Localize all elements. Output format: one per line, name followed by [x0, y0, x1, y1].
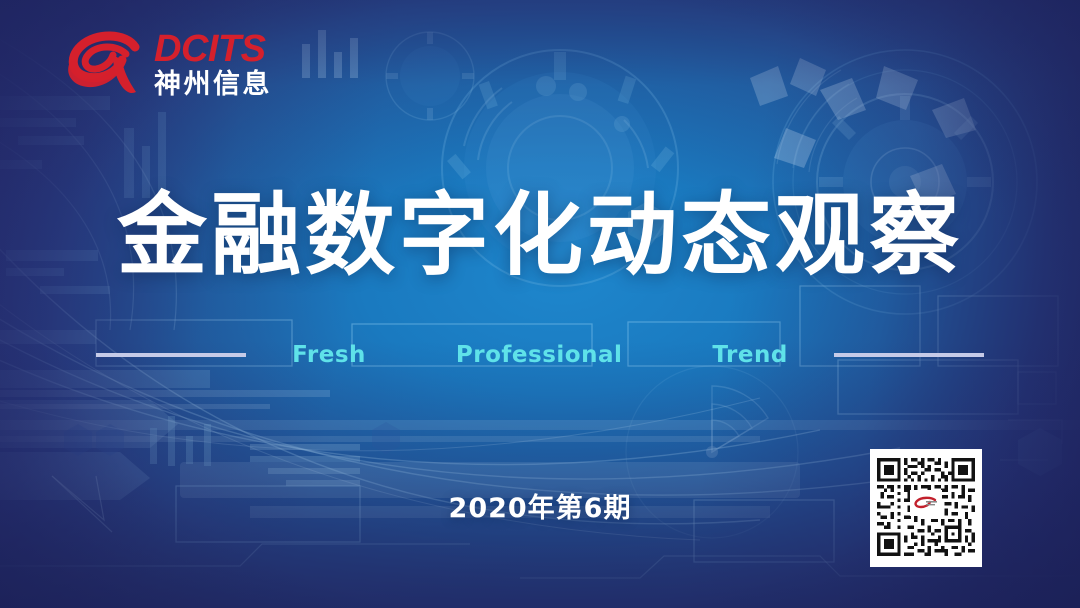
brand-chinese-name: 神州信息 [154, 71, 272, 98]
dcits-swirl-logo-icon [913, 496, 939, 510]
qr-code[interactable] [870, 449, 982, 567]
brand-logo: DCITS 神州信息 [66, 28, 272, 100]
qr-code-matrix [877, 456, 975, 558]
tagline-word-professional: Professional [456, 342, 622, 368]
tagline-word-fresh: Fresh [292, 342, 366, 368]
poster-canvas: DCITS 神州信息 金融数字化动态观察 Fresh Professional … [0, 0, 1080, 608]
qr-center-logo [910, 490, 942, 516]
tagline-rule-right [834, 353, 984, 357]
tagline-row: Fresh Professional Trend [0, 338, 1080, 372]
tagline-word-trend: Trend [712, 342, 787, 368]
dcits-swirl-logo-icon [66, 28, 144, 100]
brand-logo-text: DCITS 神州信息 [154, 30, 272, 98]
page-title: 金融数字化动态观察 [0, 186, 1080, 286]
brand-latin-name: DCITS [154, 30, 272, 68]
tagline-rule-left [96, 353, 246, 357]
